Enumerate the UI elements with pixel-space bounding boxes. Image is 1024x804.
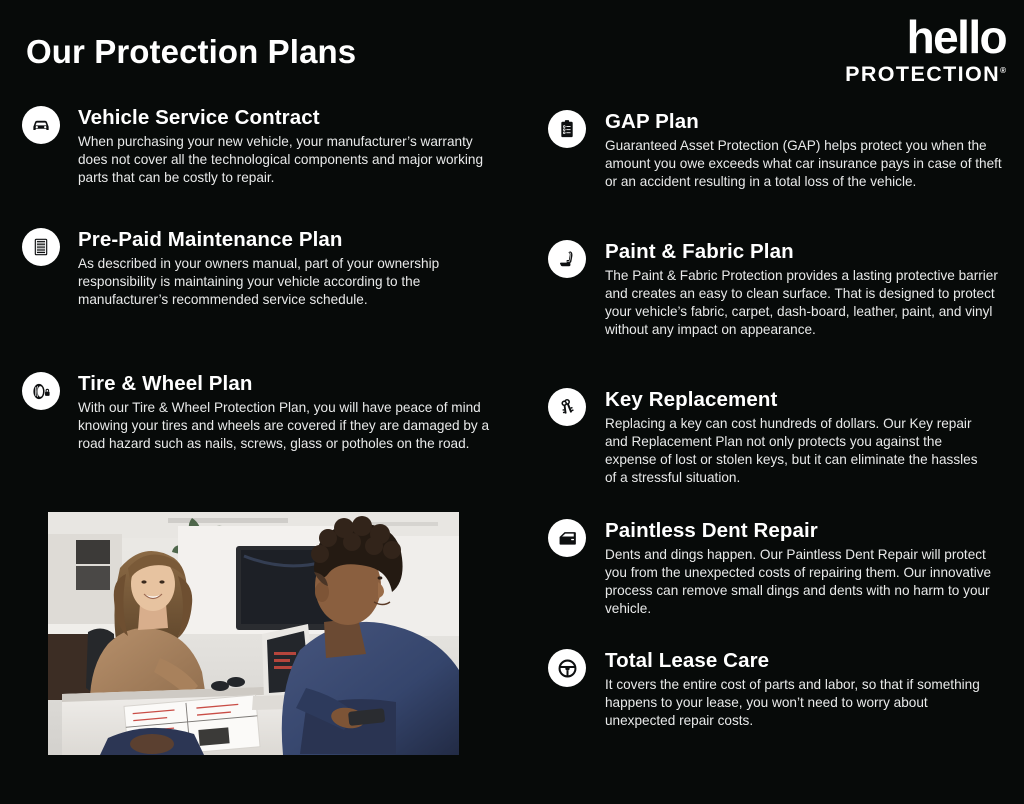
plan-title: Total Lease Care xyxy=(605,649,988,673)
car-seat-icon xyxy=(548,240,586,278)
plan-gap[interactable]: GAP Plan Guaranteed Asset Protection (GA… xyxy=(548,110,1016,191)
plan-title: Paintless Dent Repair xyxy=(605,519,1010,543)
protection-plans-page: Our Protection Plans hello PROTECTION® V… xyxy=(0,0,1024,804)
plan-title: Vehicle Service Contract xyxy=(78,106,492,130)
manual-document-icon xyxy=(22,228,60,266)
plan-description: Dents and dings happen. Our Paintless De… xyxy=(605,546,1010,618)
plan-text-block: GAP Plan Guaranteed Asset Protection (GA… xyxy=(605,110,1016,191)
plan-text-block: Pre-Paid Maintenance Plan As described i… xyxy=(78,228,462,309)
plan-title: GAP Plan xyxy=(605,110,1016,134)
tire-wheel-icon xyxy=(22,372,60,410)
brand-name-secondary: PROTECTION® xyxy=(845,64,1006,86)
keys-icon xyxy=(548,388,586,426)
plan-description: As described in your owners manual, part… xyxy=(78,255,462,309)
plan-title: Tire & Wheel Plan xyxy=(78,372,500,396)
brand-protection-text: PROTECTION xyxy=(845,62,1000,86)
car-door-icon xyxy=(548,519,586,557)
plan-total-lease-care[interactable]: Total Lease Care It covers the entire co… xyxy=(548,649,988,730)
plan-paint-and-fabric[interactable]: Paint & Fabric Plan The Paint & Fabric P… xyxy=(548,240,1010,339)
clipboard-checklist-icon xyxy=(548,110,586,148)
plan-description: It covers the entire cost of parts and l… xyxy=(605,676,988,730)
plan-vehicle-service-contract[interactable]: Vehicle Service Contract When purchasing… xyxy=(22,106,492,187)
plan-pre-paid-maintenance[interactable]: Pre-Paid Maintenance Plan As described i… xyxy=(22,228,462,309)
plan-text-block: Tire & Wheel Plan With our Tire & Wheel … xyxy=(78,372,500,453)
plan-paintless-dent-repair[interactable]: Paintless Dent Repair Dents and dings ha… xyxy=(548,519,1010,618)
plan-text-block: Total Lease Care It covers the entire co… xyxy=(605,649,988,730)
plan-text-block: Key Replacement Replacing a key can cost… xyxy=(605,388,988,487)
plan-title: Key Replacement xyxy=(605,388,988,412)
plan-key-replacement[interactable]: Key Replacement Replacing a key can cost… xyxy=(548,388,988,487)
dealership-consultation-photo xyxy=(48,512,459,755)
plan-description: The Paint & Fabric Protection provides a… xyxy=(605,267,1010,339)
registered-trademark-icon: ® xyxy=(1000,66,1006,75)
plan-text-block: Vehicle Service Contract When purchasing… xyxy=(78,106,492,187)
plan-description: When purchasing your new vehicle, your m… xyxy=(78,133,492,187)
plan-text-block: Paint & Fabric Plan The Paint & Fabric P… xyxy=(605,240,1010,339)
plan-title: Paint & Fabric Plan xyxy=(605,240,1010,264)
plan-tire-and-wheel[interactable]: Tire & Wheel Plan With our Tire & Wheel … xyxy=(22,372,500,453)
brand-logo: hello PROTECTION® xyxy=(845,16,1006,85)
car-icon xyxy=(22,106,60,144)
brand-name-primary: hello xyxy=(845,16,1006,60)
plan-title: Pre-Paid Maintenance Plan xyxy=(78,228,462,252)
plan-description: With our Tire & Wheel Protection Plan, y… xyxy=(78,399,500,453)
plan-text-block: Paintless Dent Repair Dents and dings ha… xyxy=(605,519,1010,618)
plan-description: Guaranteed Asset Protection (GAP) helps … xyxy=(605,137,1016,191)
steering-wheel-icon xyxy=(548,649,586,687)
page-title: Our Protection Plans xyxy=(26,34,356,70)
plan-description: Replacing a key can cost hundreds of dol… xyxy=(605,415,988,487)
